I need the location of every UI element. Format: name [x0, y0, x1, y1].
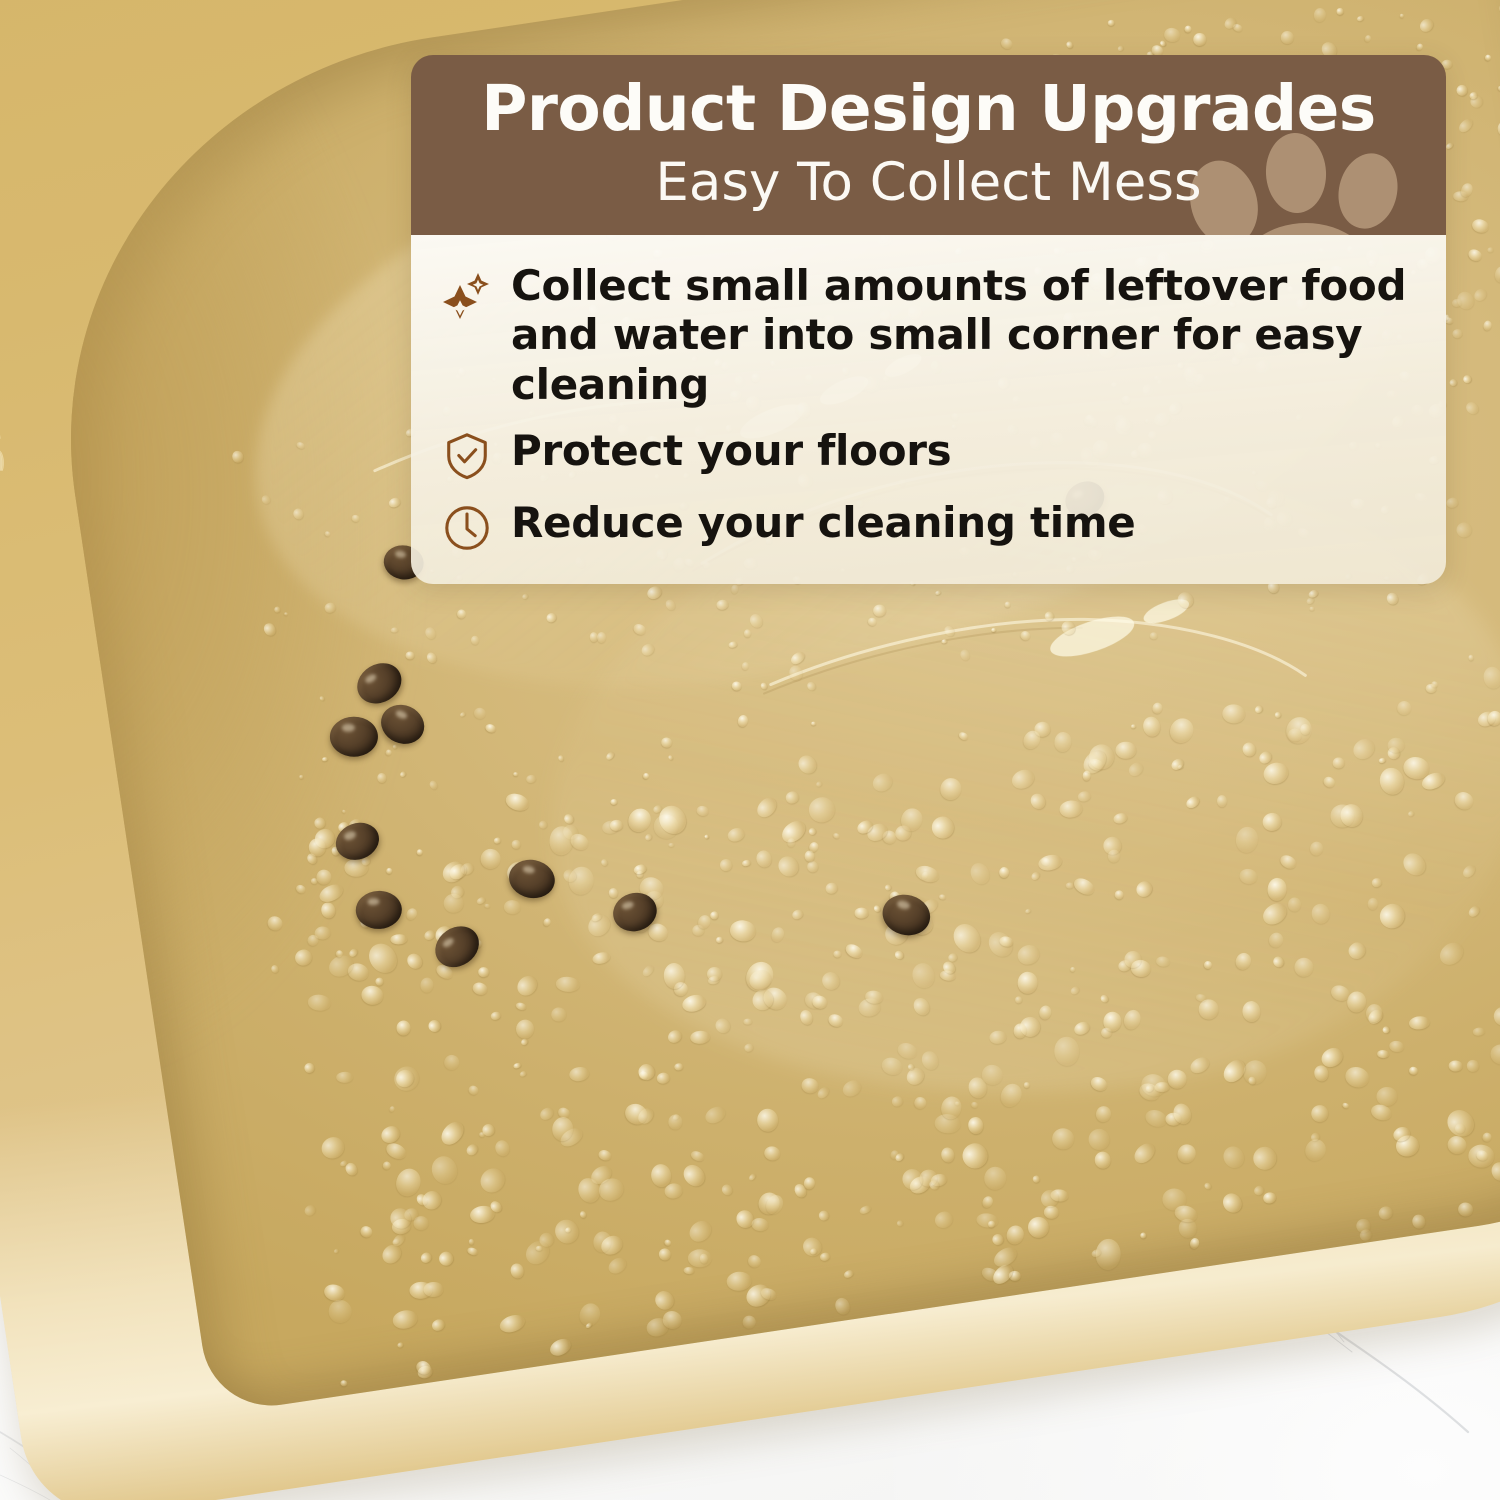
info-card: Product Design Upgrades Easy To Collect …	[411, 55, 1446, 584]
kibble-piece	[330, 716, 378, 756]
card-header: Product Design Upgrades Easy To Collect …	[411, 55, 1446, 235]
feature-item: Reduce your cleaning time	[441, 498, 1416, 554]
sparkle-icon	[441, 271, 493, 323]
feature-item: Protect your floors	[441, 426, 1416, 482]
shield-check-icon	[441, 430, 493, 482]
clock-icon	[441, 502, 493, 554]
product-marketing-image: Smiloui Product Design Upgrades Easy To …	[0, 0, 1500, 1500]
page-subtitle: Easy To Collect Mess	[445, 155, 1412, 211]
feature-label: Collect small amounts of leftover food a…	[511, 261, 1416, 410]
feature-label: Reduce your cleaning time	[511, 498, 1136, 548]
feature-item: Collect small amounts of leftover food a…	[441, 261, 1416, 410]
page-title: Product Design Upgrades	[445, 77, 1412, 141]
card-body: Collect small amounts of leftover food a…	[411, 235, 1446, 584]
feature-label: Protect your floors	[511, 426, 951, 476]
